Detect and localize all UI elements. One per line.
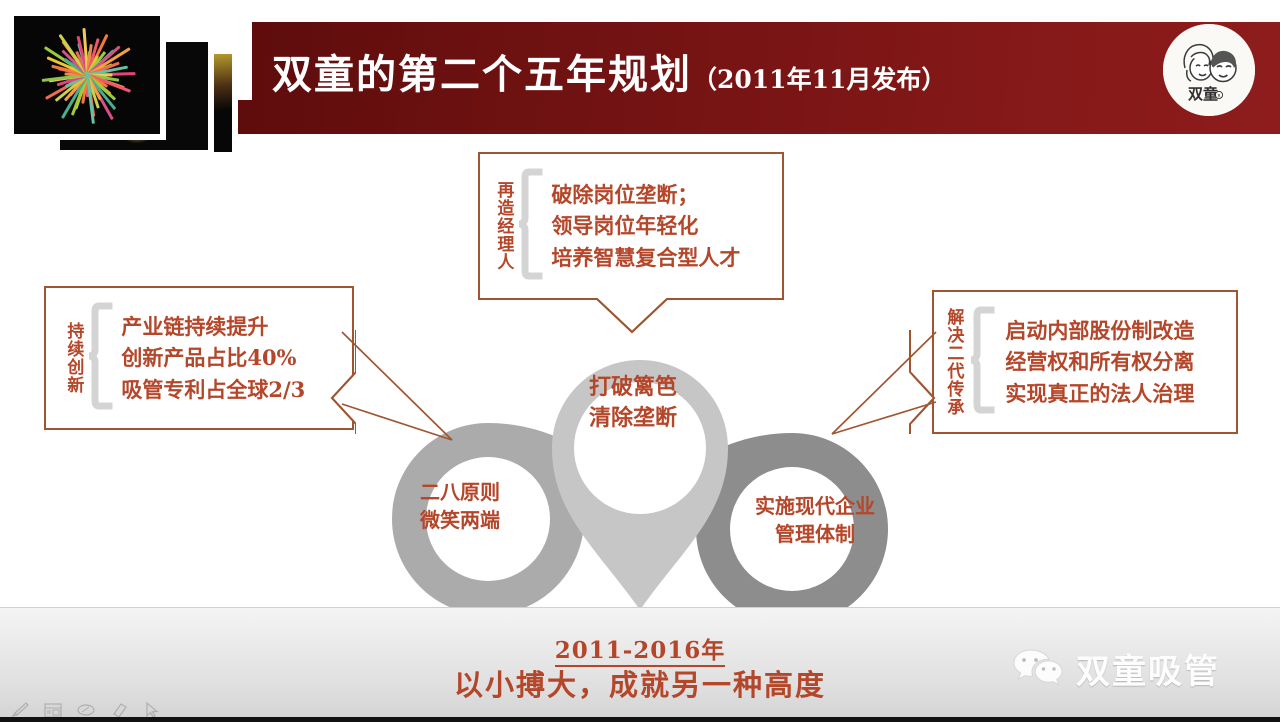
callout-top-line-2: 领导岗位年轻化 (551, 210, 740, 242)
callout-right-line-1: 启动内部股份制改造 (1005, 315, 1194, 347)
callout-left-label: 持续创新 (64, 322, 81, 394)
pin-left-label: 二八原则 微笑两端 (375, 478, 545, 535)
callout-left-line-3: 吸管专利占全球2/3 (121, 374, 305, 406)
callout-left-lines: 产业链持续提升 创新产品占比40% 吸管专利占全球2/3 (121, 311, 305, 406)
page-title-main: 双童的第二个五年规划 (272, 51, 692, 98)
callout-right-line-3: 实现真正的法人治理 (1005, 378, 1194, 410)
pin-right-line-1: 实施现代企业 (727, 492, 903, 520)
pin-center-line-2: 清除垄断 (548, 403, 718, 434)
pin-center-label: 打破篱笆 清除垄断 (548, 372, 718, 434)
svg-text:R: R (1217, 94, 1220, 100)
presentation-slide: 双童的第二个五年规划（2011年11月发布） (0, 0, 1280, 722)
wechat-watermark: 双童吸管 (1012, 645, 1220, 691)
callout-box-right: 解决二代传承 启动内部股份制改造 经营权和所有权分离 实现真正的法人治理 (932, 290, 1238, 434)
callout-right-arrow-icon (818, 330, 938, 450)
callout-top-line-3: 培养智慧复合型人才 (551, 242, 740, 274)
callout-left-arrow-icon (340, 330, 470, 450)
pin-left-line-2: 微笑两端 (375, 506, 545, 534)
callout-top-label: 再造经理人 (494, 181, 511, 271)
callout-right-lines: 启动内部股份制改造 经营权和所有权分离 实现真正的法人治理 (1005, 315, 1194, 410)
shuangtong-logo: 双童 R (1163, 24, 1255, 116)
callout-right-label: 解决二代传承 (944, 308, 961, 416)
straw-photo-1 (8, 10, 166, 140)
callout-box-left: 持续创新 产业链持续提升 创新产品占比40% 吸管专利占全球2/3 (44, 286, 354, 430)
slide-bottom-edge (0, 717, 1280, 722)
page-title: 双童的第二个五年规划（2011年11月发布） (272, 46, 946, 109)
callout-box-top: 再造经理人 破除岗位垄断； 领导岗位年轻化 培养智慧复合型人才 (478, 152, 784, 300)
callout-top-line-1: 破除岗位垄断； (551, 179, 740, 211)
callout-left-line-2: 创新产品占比40% (121, 342, 305, 374)
logo-wordmark: 双童 (1188, 85, 1218, 103)
callout-top-brace-icon (517, 168, 543, 285)
pin-right-label: 实施现代企业 管理体制 (727, 492, 903, 549)
wechat-icon (1012, 648, 1064, 688)
callout-top-lines: 破除岗位垄断； 领导岗位年轻化 培养智慧复合型人才 (551, 179, 740, 274)
pin-left-line-1: 二八原则 (375, 478, 545, 506)
callout-right-line-2: 经营权和所有权分离 (1005, 346, 1194, 378)
page-title-sub: （2011年11月发布） (692, 65, 946, 94)
callout-right-brace-icon (969, 306, 995, 419)
watermark-text: 双童吸管 (1076, 644, 1220, 693)
callout-top-tail (596, 298, 668, 336)
pin-right-line-2: 管理体制 (727, 520, 903, 548)
callout-left-line-1: 产业链持续提升 (121, 311, 305, 343)
pin-center-line-1: 打破篱笆 (548, 372, 718, 403)
callout-left-brace-icon (87, 302, 113, 415)
